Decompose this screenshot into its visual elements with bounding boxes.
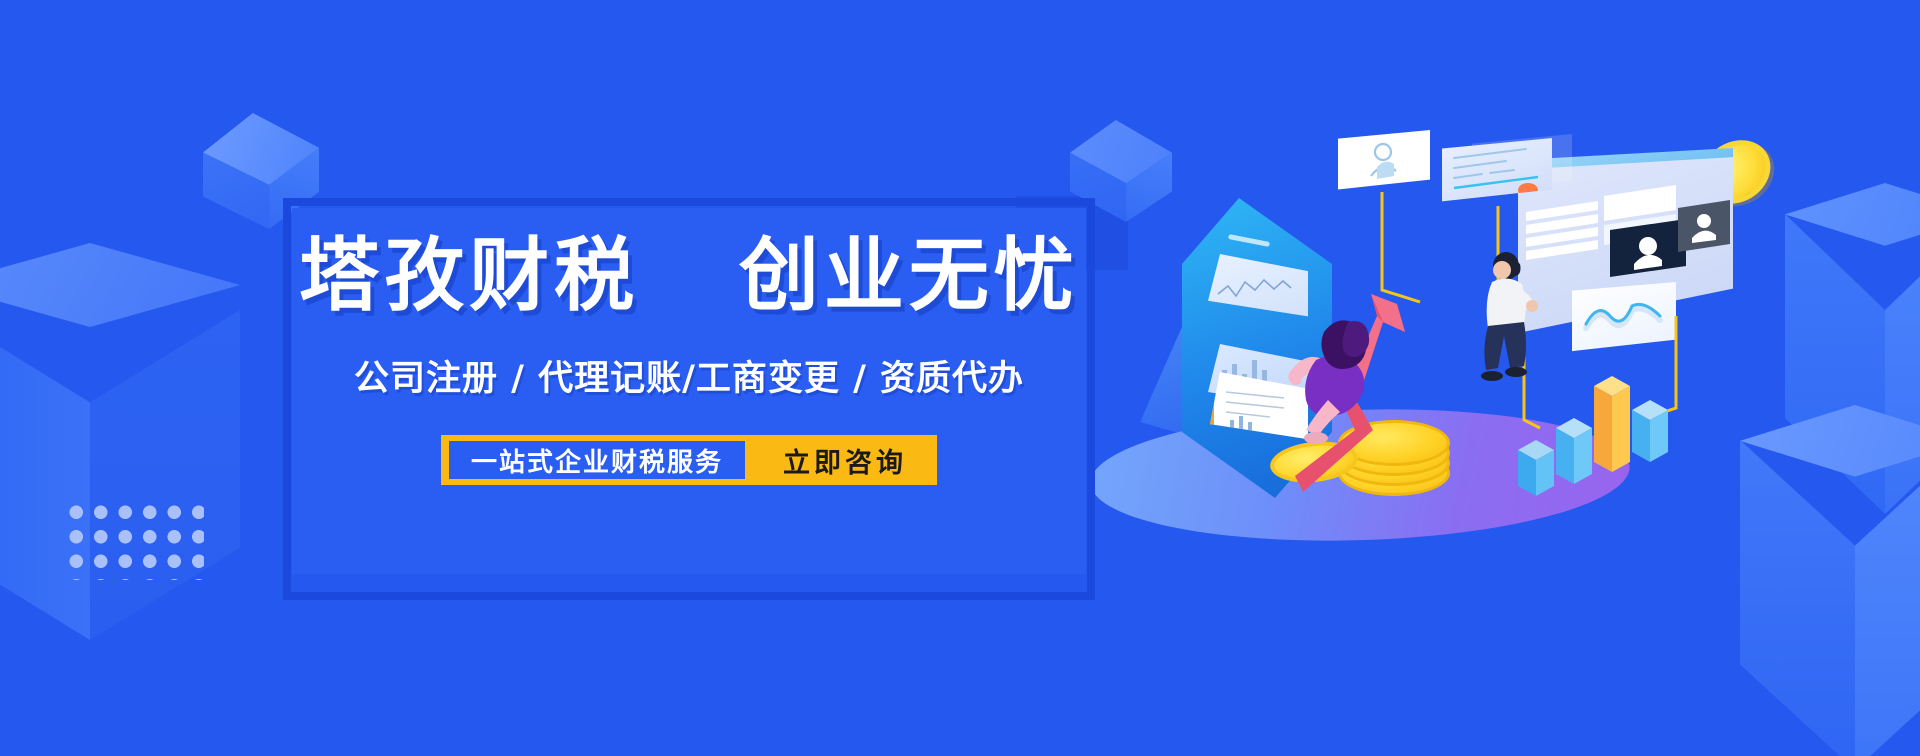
headline-content: 塔孜财税 创业无忧 公司注册 / 代理记账/工商变更 / 资质代办 一站式企业财… [283,198,1095,600]
box-left-right-face [90,310,240,640]
person-icon [1338,130,1430,192]
cta-bar: 一站式企业财税服务 立即咨询 [441,435,937,485]
line-chart-panel [1572,282,1676,354]
consult-now-button[interactable]: 立即咨询 [745,441,937,480]
pillar-lower-left-face [1740,440,1855,756]
headline-part-1: 塔孜财税 [299,229,639,322]
cta-tag: 一站式企业财税服务 [449,441,745,479]
headline-part-2: 创业无忧 [739,229,1079,322]
woman-character [1272,288,1402,448]
promo-banner: 塔孜财税 创业无忧 公司注册 / 代理记账/工商变更 / 资质代办 一站式企业财… [0,0,1920,756]
subtitle: 公司注册 / 代理记账/工商变更 / 资质代办 [354,350,1024,401]
dot-grid-pattern [64,500,204,580]
line-chart-icon [1572,282,1676,354]
page-title: 塔孜财税 创业无忧 [299,236,1079,316]
pillar-upper-right-face [1885,214,1920,514]
id-card-panel [1338,130,1430,192]
hero-illustration [1120,120,1680,540]
bar-chart-3d [1512,366,1692,506]
